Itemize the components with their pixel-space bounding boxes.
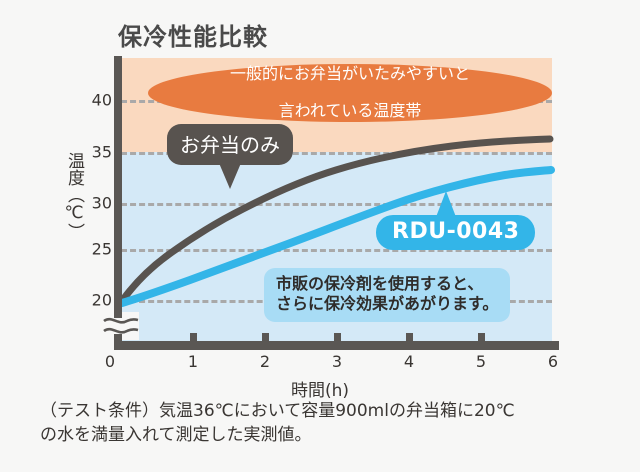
rdu-callout: RDU-0043 [376, 215, 535, 250]
x-tick-mark-4 [406, 333, 413, 341]
y-tick-25: 25 [92, 240, 112, 259]
hot-zone-ellipse: 一般的にお弁当がいたみやすいと言われている温度帯 [148, 64, 552, 122]
x-tick-3: 3 [332, 352, 342, 371]
hot-zone-line-2: 言われている温度帯 [230, 102, 470, 121]
y-axis-line [114, 56, 122, 347]
caption-line-2: の水を満量入れて測定した実測値。 [40, 425, 312, 445]
test-conditions-caption: （テスト条件）気温36℃において容量900mlの弁当箱に20℃ の水を満量入れて… [40, 399, 620, 447]
x-axis-line [114, 341, 559, 350]
hot-zone-line-1: 一般的にお弁当がいたみやすいと [230, 65, 470, 84]
y-tick-20: 20 [92, 291, 112, 310]
x-tick-mark-2 [262, 333, 269, 341]
callout-tail-up-icon [436, 191, 456, 217]
x-tick-2: 2 [260, 352, 270, 371]
y-tick-30: 30 [92, 194, 112, 213]
x-axis-title: 時間(h) [0, 376, 640, 401]
x-tick-mark-1 [190, 333, 197, 341]
x-tick-0: 0 [105, 352, 115, 371]
y-tick-35: 35 [92, 143, 112, 162]
chart-root: 保冷性能比較 40 35 30 25 20 0 1 [0, 0, 640, 472]
y-tick-40: 40 [92, 91, 112, 110]
coolant-note-line-2: さらに保冷効果があがります。 [276, 294, 498, 313]
x-tick-1: 1 [188, 352, 198, 371]
coolant-note-line-1: 市販の保冷剤を使用すると、 [276, 274, 483, 293]
x-tick-mark-5 [478, 333, 485, 341]
x-tick-mark-3 [334, 333, 341, 341]
bento-only-callout: お弁当のみ [167, 124, 293, 165]
axis-break-icon [103, 312, 139, 340]
x-tick-4: 4 [404, 352, 414, 371]
bento-only-label: お弁当のみ [180, 133, 280, 157]
callout-tail-down-icon [219, 163, 241, 189]
x-tick-5: 5 [476, 352, 486, 371]
page-title: 保冷性能比較 [118, 17, 268, 52]
y-axis-title: 温度（℃） [56, 152, 82, 240]
hot-zone-text: 一般的にお弁当がいたみやすいと言われている温度帯 [230, 65, 470, 122]
gridline-30 [121, 203, 552, 206]
rdu-label: RDU-0043 [392, 219, 519, 244]
coolant-note: 市販の保冷剤を使用すると、 さらに保冷効果があがります。 [264, 268, 510, 322]
caption-line-1: （テスト条件）気温36℃において容量900mlの弁当箱に20℃ [40, 401, 515, 421]
x-tick-6: 6 [548, 352, 558, 371]
